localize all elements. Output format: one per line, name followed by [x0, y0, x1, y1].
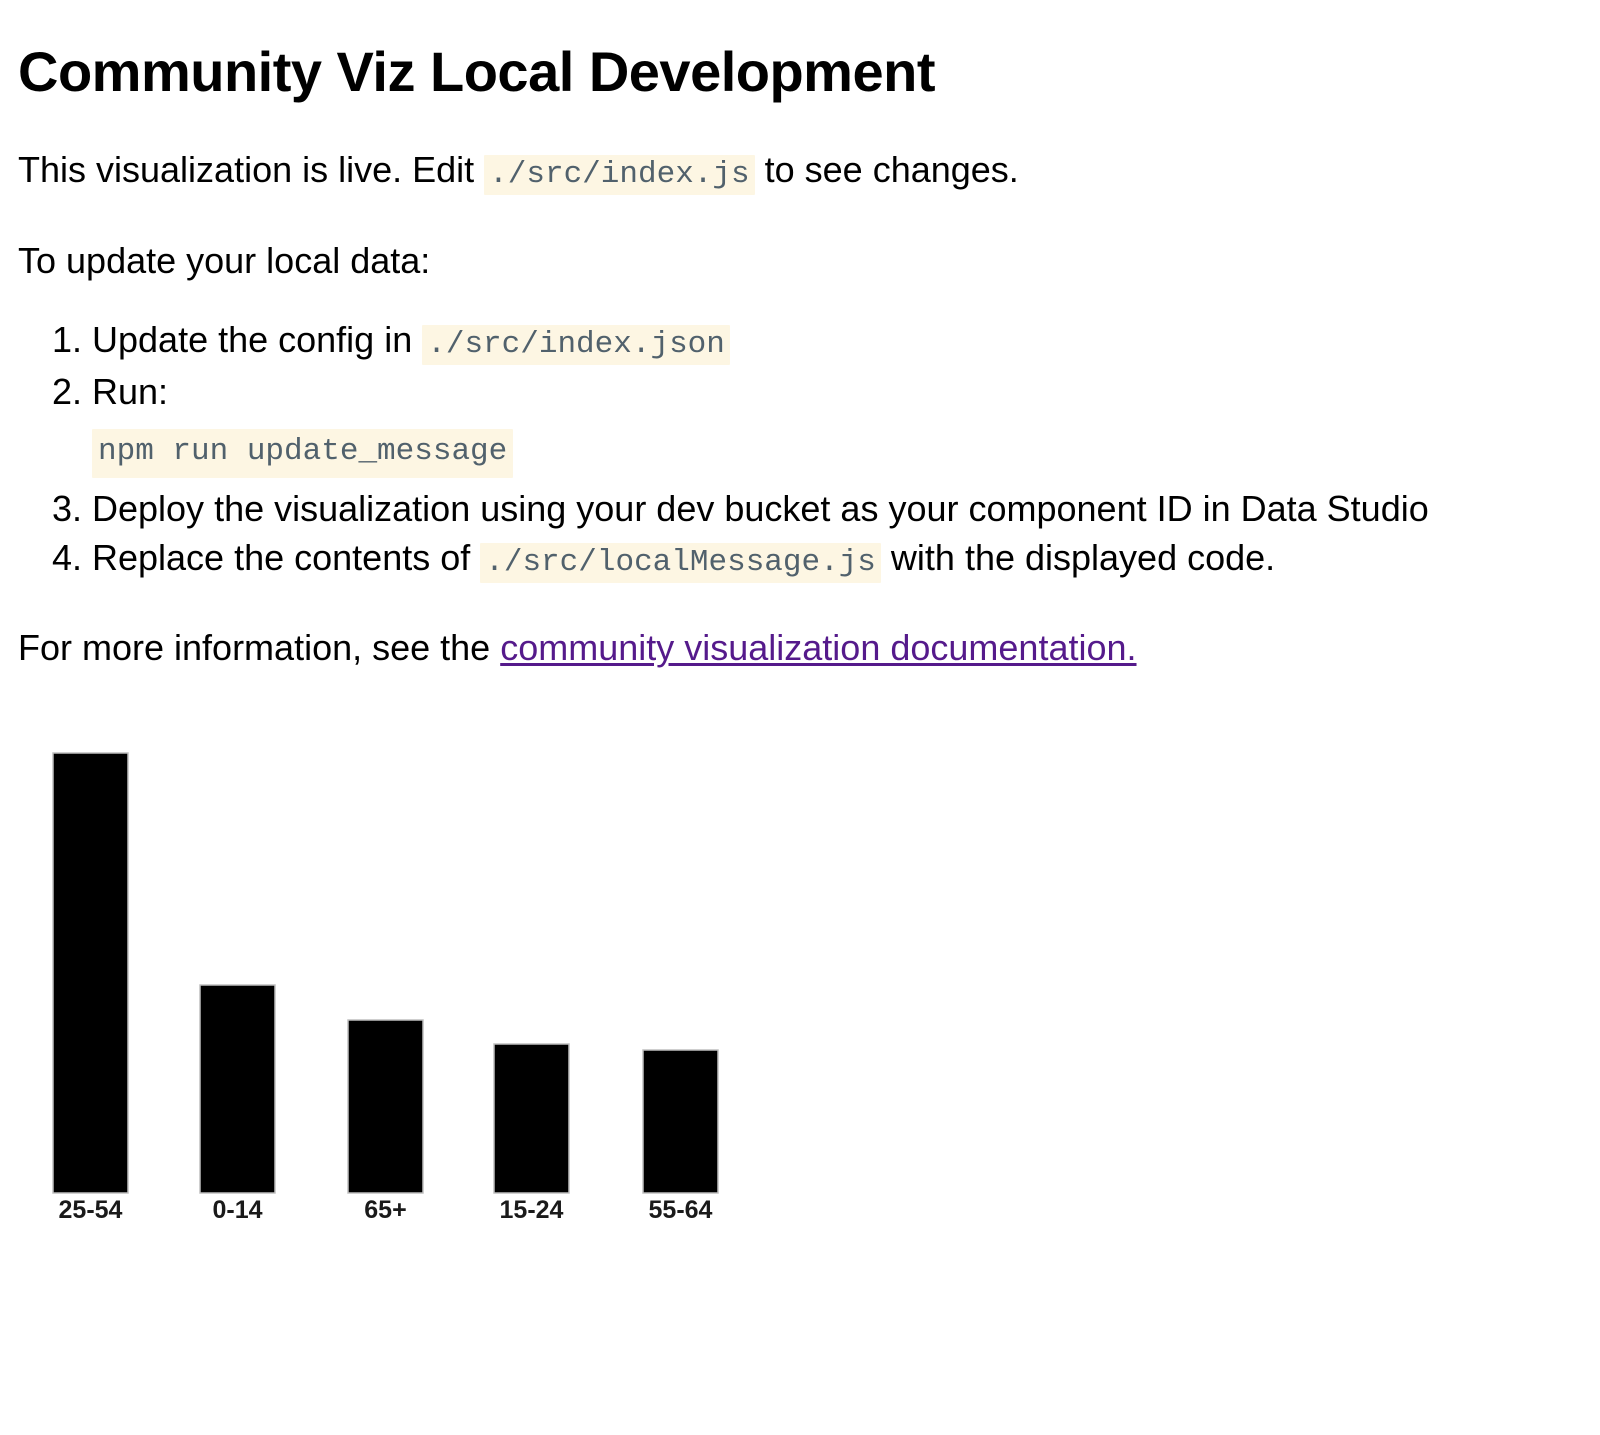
- bar-chart: 25-54 0-14 65+ 15-24 55-64: [0, 700, 1600, 1260]
- page-title: Community Viz Local Development: [18, 40, 1582, 104]
- bar[interactable]: [200, 985, 275, 1193]
- document-body: Community Viz Local Development This vis…: [0, 0, 1600, 670]
- step-1-text-before: Update the config in: [92, 319, 422, 360]
- bar-chart-svg: 25-54 0-14 65+ 15-24 55-64: [0, 700, 1600, 1260]
- list-item: Update the config in ./src/index.json: [92, 317, 1582, 365]
- x-axis-tick-labels: 25-54 0-14 65+ 15-24 55-64: [59, 1196, 713, 1224]
- code-npm-run-update-message: npm run update_message: [92, 429, 513, 478]
- x-tick-label: 65+: [364, 1196, 406, 1224]
- code-index-json: ./src/index.json: [422, 325, 730, 365]
- bar[interactable]: [494, 1044, 569, 1193]
- intro-text-after: to see changes.: [755, 149, 1019, 190]
- list-item: Run: npm run update_message: [92, 369, 1582, 478]
- code-block-wrapper: npm run update_message: [92, 424, 1582, 478]
- list-item: Deploy the visualization using your dev …: [92, 486, 1582, 531]
- x-tick-label: 0-14: [212, 1196, 262, 1224]
- intro-text-before: This visualization is live. Edit: [18, 149, 484, 190]
- bars-group: [53, 753, 718, 1193]
- bar[interactable]: [643, 1050, 718, 1193]
- bar[interactable]: [348, 1020, 423, 1193]
- x-tick-label: 15-24: [500, 1196, 564, 1224]
- community-visualization-documentation-link[interactable]: community visualization documentation.: [500, 627, 1136, 668]
- bar[interactable]: [53, 753, 128, 1193]
- list-item: Replace the contents of ./src/localMessa…: [92, 535, 1582, 583]
- more-info-text: For more information, see the: [18, 627, 500, 668]
- x-tick-label: 55-64: [649, 1196, 713, 1224]
- intro-paragraph: This visualization is live. Edit ./src/i…: [18, 147, 1582, 195]
- steps-list: Update the config in ./src/index.json Ru…: [18, 317, 1582, 582]
- update-heading: To update your local data:: [18, 238, 1582, 283]
- more-info-paragraph: For more information, see the community …: [18, 625, 1582, 670]
- step-2-text-before: Run:: [92, 371, 168, 412]
- code-local-message-js: ./src/localMessage.js: [480, 543, 881, 583]
- x-tick-label: 25-54: [59, 1196, 123, 1224]
- step-4-text-before: Replace the contents of: [92, 537, 480, 578]
- step-3-text: Deploy the visualization using your dev …: [92, 488, 1429, 529]
- step-4-text-after: with the displayed code.: [881, 537, 1275, 578]
- viz-page: Community Viz Local Development This vis…: [0, 0, 1600, 1435]
- code-index-js: ./src/index.js: [484, 155, 754, 195]
